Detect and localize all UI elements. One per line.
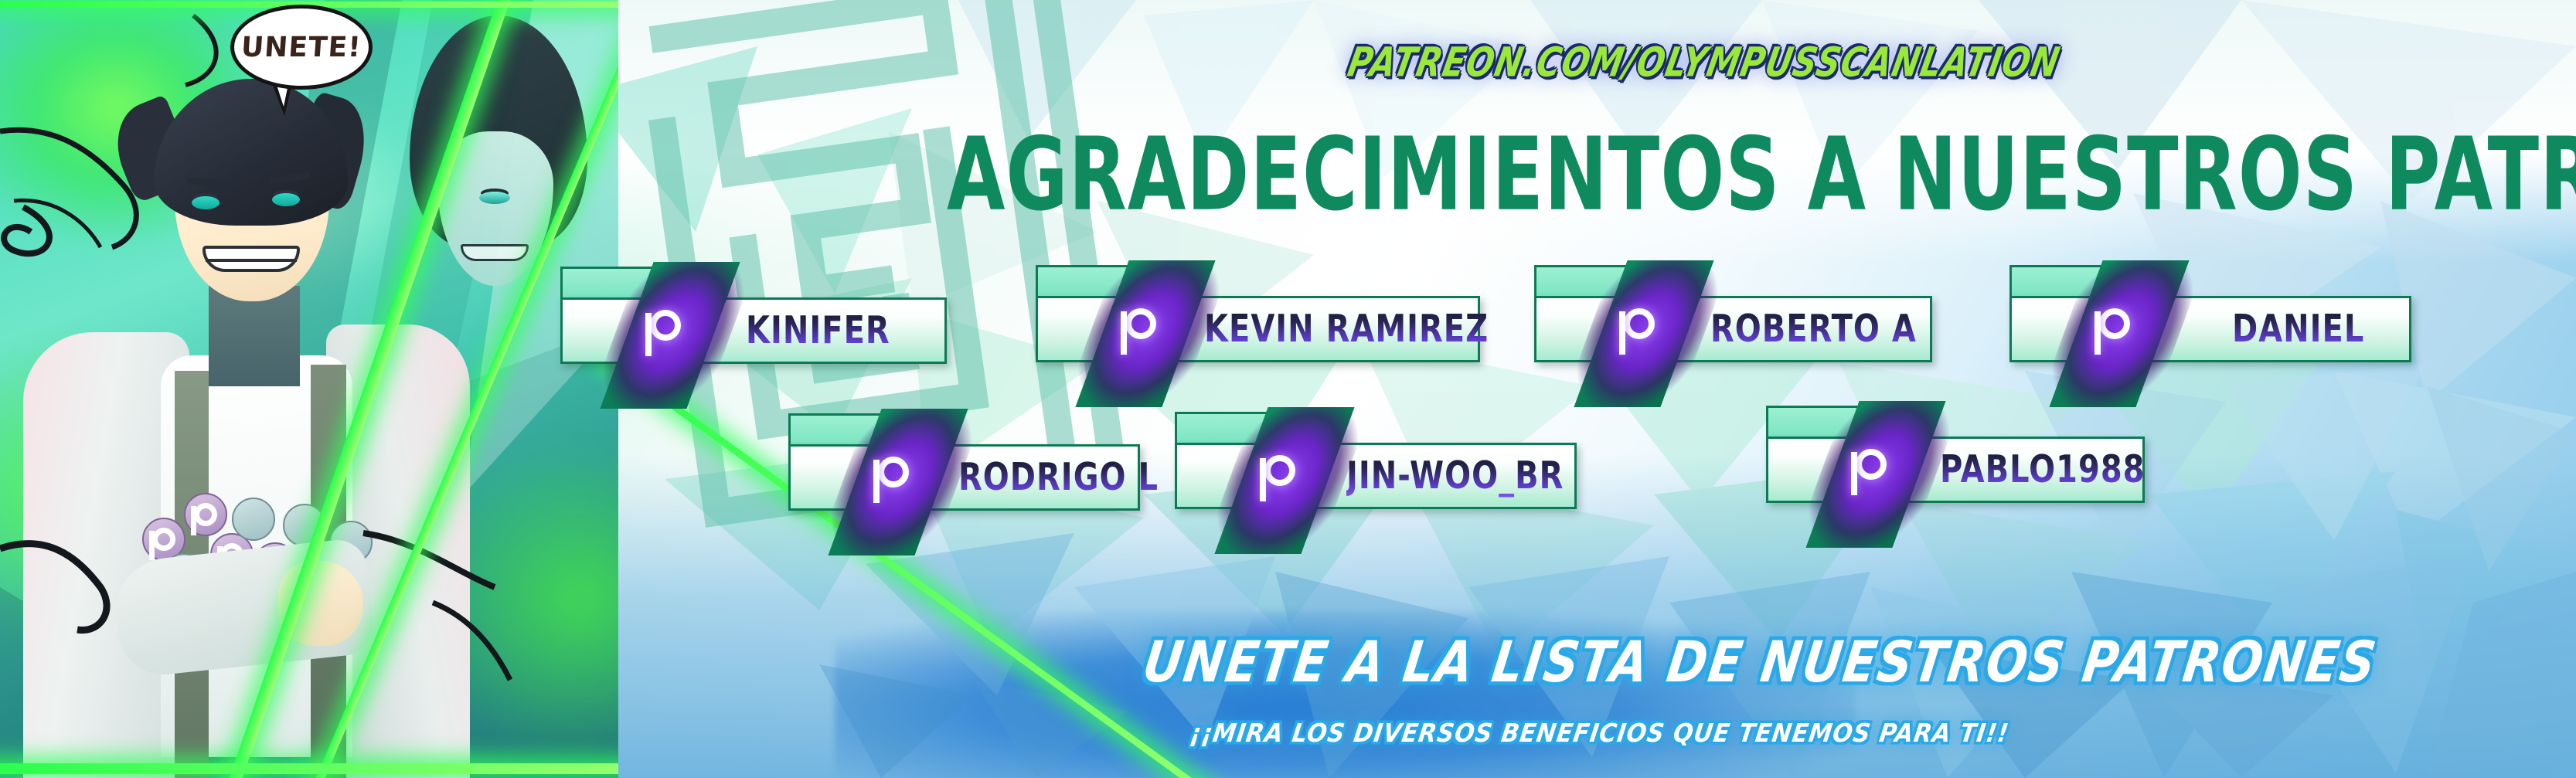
patron-badge[interactable]: KINIFER — [560, 297, 947, 364]
patron-badge[interactable]: RODRIGO L — [788, 444, 1140, 511]
cable-wires — [0, 0, 618, 778]
patreon-p-icon — [1856, 449, 1887, 480]
patreon-p-icon — [1624, 308, 1655, 339]
cta-subtext: ¡¡MIRA LOS DIVERSOS BENEFICIOS QUE TENEM… — [1188, 719, 2011, 749]
patreon-url[interactable]: PATREON.COM/OLYMPUSSCANLATION — [1344, 39, 2064, 86]
patreon-logo-wrap — [1119, 305, 1167, 353]
patron-badge[interactable]: PABLO1988 — [1766, 437, 2145, 503]
patreon-logo-wrap — [1258, 452, 1306, 500]
patron-name: KINIFER — [746, 309, 890, 352]
patron-name: ROBERTO A — [1710, 307, 1917, 351]
patreon-p-icon — [878, 457, 909, 488]
patron-name: KEVIN RAMIREZ — [1204, 307, 1489, 351]
patreon-p-icon — [650, 310, 681, 341]
patreon-logo-wrap — [1849, 446, 1897, 494]
patreon-p-icon — [1264, 455, 1295, 486]
patron-badge[interactable]: ROBERTO A — [1534, 296, 1932, 362]
neon-border-bottom — [0, 763, 618, 774]
patron-name: RODRIGO L — [958, 456, 1159, 499]
patron-name: DANIEL — [2232, 307, 2364, 351]
speech-bubble-text: UNETE! — [240, 32, 362, 63]
speech-bubble: UNETE! — [230, 5, 373, 90]
patron-name: JIN-WOO_BR — [1346, 454, 1564, 498]
patron-badge[interactable]: JIN-WOO_BR — [1175, 443, 1577, 509]
patreon-logo-wrap — [2093, 305, 2141, 353]
patreon-logo-wrap — [644, 307, 692, 355]
patreon-thanks-banner: UNETE! PATREON.COM/OLYMPUSSCANLATION AGR… — [0, 0, 2576, 778]
page-title: AGRADECIMIENTOS A NUESTROS PATRONES — [947, 116, 2462, 233]
patreon-logo-wrap — [872, 454, 920, 501]
patron-badge[interactable]: KEVIN RAMIREZ — [1036, 296, 1480, 362]
patreon-p-icon — [2099, 308, 2130, 339]
patron-name: PABLO1988 — [1940, 448, 2145, 491]
cta-headline[interactable]: UNETE A LA LISTA DE NUESTROS PATRONES — [1139, 628, 2381, 695]
character-artwork-panel — [0, 0, 618, 778]
patreon-logo-wrap — [1618, 305, 1666, 353]
patreon-p-icon — [1125, 308, 1156, 339]
patron-badge[interactable]: DANIEL — [2009, 296, 2411, 362]
